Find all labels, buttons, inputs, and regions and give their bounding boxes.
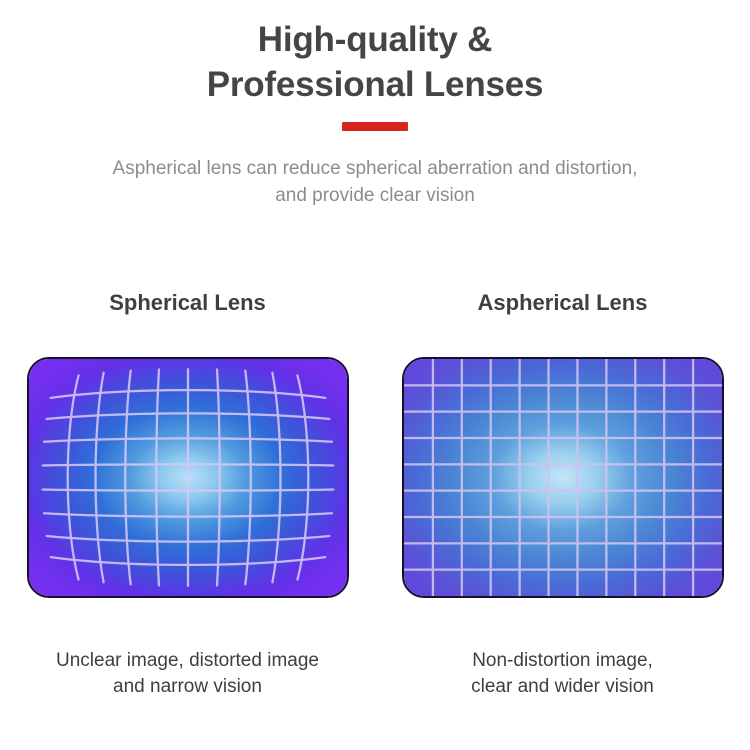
lens-comparison: Spherical Lens: [0, 286, 750, 699]
lens-columns: Spherical Lens: [0, 286, 750, 699]
title-divider: [342, 122, 408, 131]
spherical-lens-caption: Unclear image, distorted image and narro…: [8, 648, 368, 699]
subtitle-line-2: and provide clear vision: [25, 182, 725, 210]
spherical-lens-image: [27, 357, 349, 598]
header: High-quality & Professional Lenses Asphe…: [0, 0, 750, 210]
spherical-caption-line-1: Unclear image, distorted image: [8, 648, 368, 674]
aspherical-lens-caption: Non-distortion image, clear and wider vi…: [383, 648, 743, 699]
lens-comparison-page: High-quality & Professional Lenses Asphe…: [0, 0, 750, 750]
aspherical-lens-image: [402, 357, 724, 598]
subtitle-line-1: Aspherical lens can reduce spherical abe…: [25, 155, 725, 183]
title-line-2: Professional Lenses: [0, 63, 750, 108]
spherical-lens-column: Spherical Lens: [0, 286, 375, 699]
aspherical-lens-column: Aspherical Lens: [375, 286, 750, 699]
aspherical-lens-label: Aspherical Lens: [478, 286, 648, 320]
spherical-lens-label: Spherical Lens: [109, 286, 266, 320]
spherical-caption-line-2: and narrow vision: [8, 674, 368, 700]
page-title: High-quality & Professional Lenses: [0, 18, 750, 108]
divider-wrap: [0, 122, 750, 131]
title-line-1: High-quality &: [0, 18, 750, 63]
page-subtitle: Aspherical lens can reduce spherical abe…: [25, 155, 725, 210]
aspherical-lens-grid-svg: [404, 359, 722, 596]
spherical-lens-grid-svg: [29, 359, 347, 596]
aspherical-caption-line-2: clear and wider vision: [383, 674, 743, 700]
aspherical-caption-line-1: Non-distortion image,: [383, 648, 743, 674]
